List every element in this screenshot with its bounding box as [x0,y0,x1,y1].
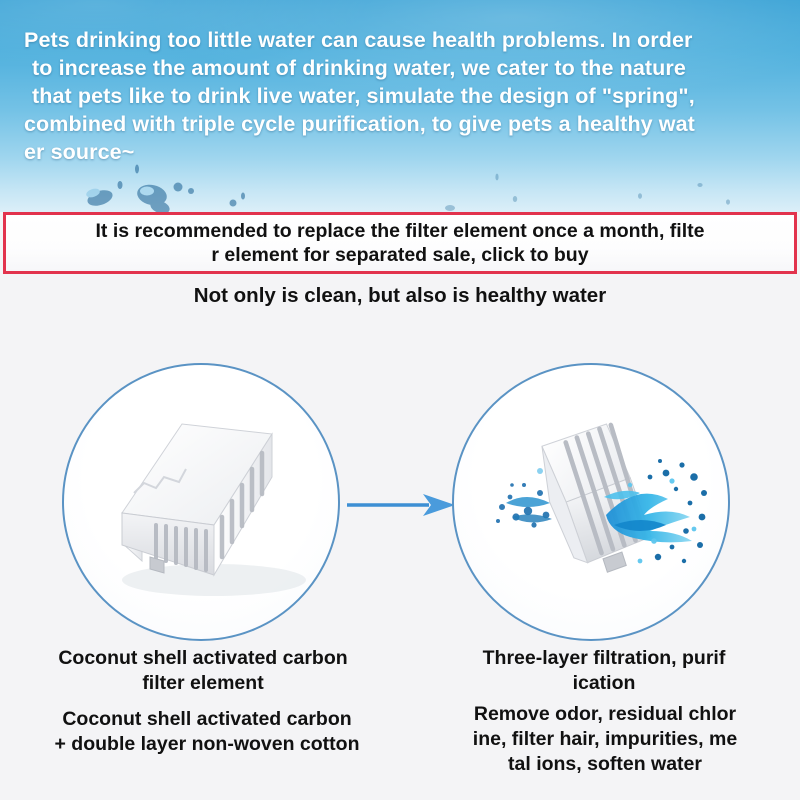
right-caption-secondary: Remove odor, residual chlor ine, filter … [420,702,790,777]
banner-line-3: that pets like to drink live water, simu… [24,82,784,110]
banner-line-4: combined with triple cycle purification,… [24,110,784,138]
right-caption-line-2: ication [420,671,788,696]
hero-banner: Pets drinking too little water can cause… [0,0,800,212]
left-caption-secondary: Coconut shell activated carbon + double … [8,707,406,757]
left-caption-line-2: filter element [8,671,398,696]
right-caption-primary: Three-layer filtration, purif ication [420,646,788,696]
banner-headline: Pets drinking too little water can cause… [24,26,784,166]
right-caption-line-1: Three-layer filtration, purif [420,646,788,671]
right-caption2-line-2: ine, filter hair, impurities, me [420,727,790,752]
left-caption-line-1: Coconut shell activated carbon [8,646,398,671]
filter-element-photo-circle [62,363,340,641]
filtration-effect-photo-circle [452,363,730,641]
callout-line-1: It is recommended to replace the filter … [96,220,705,242]
banner-line-2: to increase the amount of drinking water… [24,54,784,82]
banner-line-1: Pets drinking too little water can cause… [24,26,784,54]
callout-text: It is recommended to replace the filter … [6,219,794,267]
left-caption2-line-2: + double layer non-woven cotton [8,732,406,757]
right-caption2-line-3: tal ions, soften water [420,752,790,777]
callout-line-2: r element for separated sale, click to b… [12,243,788,267]
product-detail-page: Pets drinking too little water can cause… [0,0,800,800]
left-caption2-line-1: Coconut shell activated carbon [8,707,406,732]
section-subheading: Not only is clean, but also is healthy w… [0,283,800,309]
filter-replacement-callout[interactable]: It is recommended to replace the filter … [3,212,797,274]
filter-cartridge-illustration [64,365,340,641]
filtration-water-flow-illustration [454,365,730,641]
flow-arrow-icon [345,492,457,518]
banner-line-5: er source~ [24,138,784,166]
left-caption-primary: Coconut shell activated carbon filter el… [8,646,398,696]
right-caption2-line-1: Remove odor, residual chlor [420,702,790,727]
